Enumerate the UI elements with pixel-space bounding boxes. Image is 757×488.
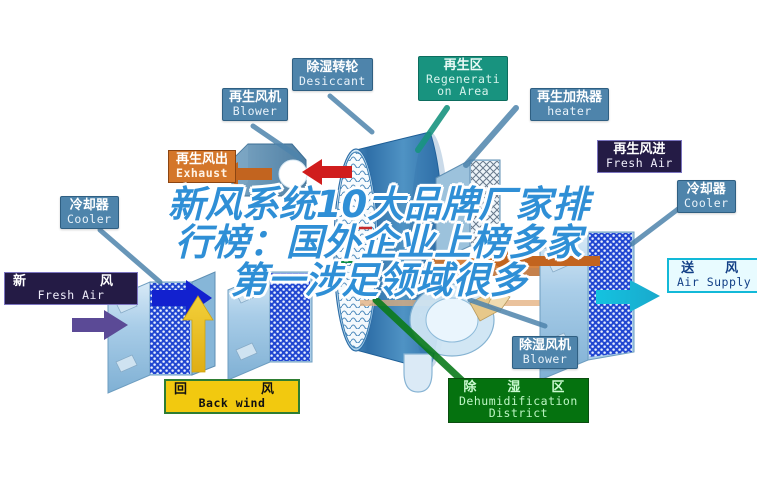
label-cooler-right[interactable]: 冷却器 Cooler — [677, 180, 736, 213]
label-regen-fresh-air-en: Fresh Air — [606, 157, 673, 169]
label-air-supply-en: Air Supply — [677, 276, 751, 288]
label-fresh-air-en: Fresh Air — [13, 289, 129, 301]
label-fresh-air[interactable]: 新 风 Fresh Air — [4, 272, 138, 305]
label-back-wind[interactable]: 回 风 Back wind — [164, 379, 300, 414]
condensate-tray — [404, 354, 432, 392]
label-exhaust-en: Exhaust — [176, 167, 228, 179]
label-regen-heater[interactable]: 再生加热器 heater — [530, 88, 609, 121]
label-regen-blower[interactable]: 再生风机 Blower — [222, 88, 288, 121]
label-back-wind-cn: 回 风 — [174, 383, 290, 397]
label-exhaust[interactable]: 再生风出 Exhaust — [168, 150, 236, 183]
diagram-canvas: xfz — [0, 0, 757, 488]
label-dehum-district-en-line2: District — [459, 407, 578, 419]
cooler-block — [228, 272, 312, 380]
label-fresh-air-cn: 新 风 — [13, 275, 129, 289]
label-regeneration-area-en-line2: on Area — [426, 85, 500, 97]
label-desiccant-en: Desiccant — [299, 75, 366, 87]
label-cooler-right-cn: 冷却器 — [684, 183, 729, 197]
label-desiccant[interactable]: 除湿转轮 Desiccant — [292, 58, 373, 91]
label-regen-heater-cn: 再生加热器 — [537, 91, 602, 105]
label-dehum-district-cn: 除 湿 区 — [459, 381, 578, 395]
label-regen-fresh-air[interactable]: 再生风进 Fresh Air — [597, 140, 682, 173]
label-regeneration-area-cn: 再生区 — [426, 59, 500, 73]
label-regeneration-area-en-line1: Regenerati — [426, 73, 500, 85]
label-regeneration-area[interactable]: 再生区 Regenerati on Area — [418, 56, 508, 101]
label-dehum-blower-en: Blower — [519, 353, 571, 365]
regeneration-heater — [436, 160, 500, 262]
label-regen-blower-cn: 再生风机 — [229, 91, 281, 105]
label-regen-heater-en: heater — [537, 105, 602, 117]
label-exhaust-cn: 再生风出 — [176, 153, 228, 167]
dehumidifier-schematic: xfz — [0, 0, 757, 488]
label-dehum-blower-cn: 除湿风机 — [519, 339, 571, 353]
label-cooler-right-en: Cooler — [684, 197, 729, 209]
label-dehumidification-district[interactable]: 除 湿 区 Dehumidification District — [448, 378, 589, 423]
label-regen-fresh-air-cn: 再生风进 — [606, 143, 673, 157]
label-air-supply-cn: 送 风 — [677, 262, 751, 276]
label-cooler-left[interactable]: 冷却器 Cooler — [60, 196, 119, 229]
label-desiccant-cn: 除湿转轮 — [299, 61, 366, 75]
label-cooler-left-cn: 冷却器 — [67, 199, 112, 213]
label-back-wind-en: Back wind — [174, 397, 290, 409]
label-dehum-blower[interactable]: 除湿风机 Blower — [512, 336, 578, 369]
label-cooler-left-en: Cooler — [67, 213, 112, 225]
label-dehum-district-en-line1: Dehumidification — [459, 395, 578, 407]
label-regen-blower-en: Blower — [229, 105, 281, 117]
label-air-supply[interactable]: 送 风 Air Supply — [667, 258, 757, 293]
